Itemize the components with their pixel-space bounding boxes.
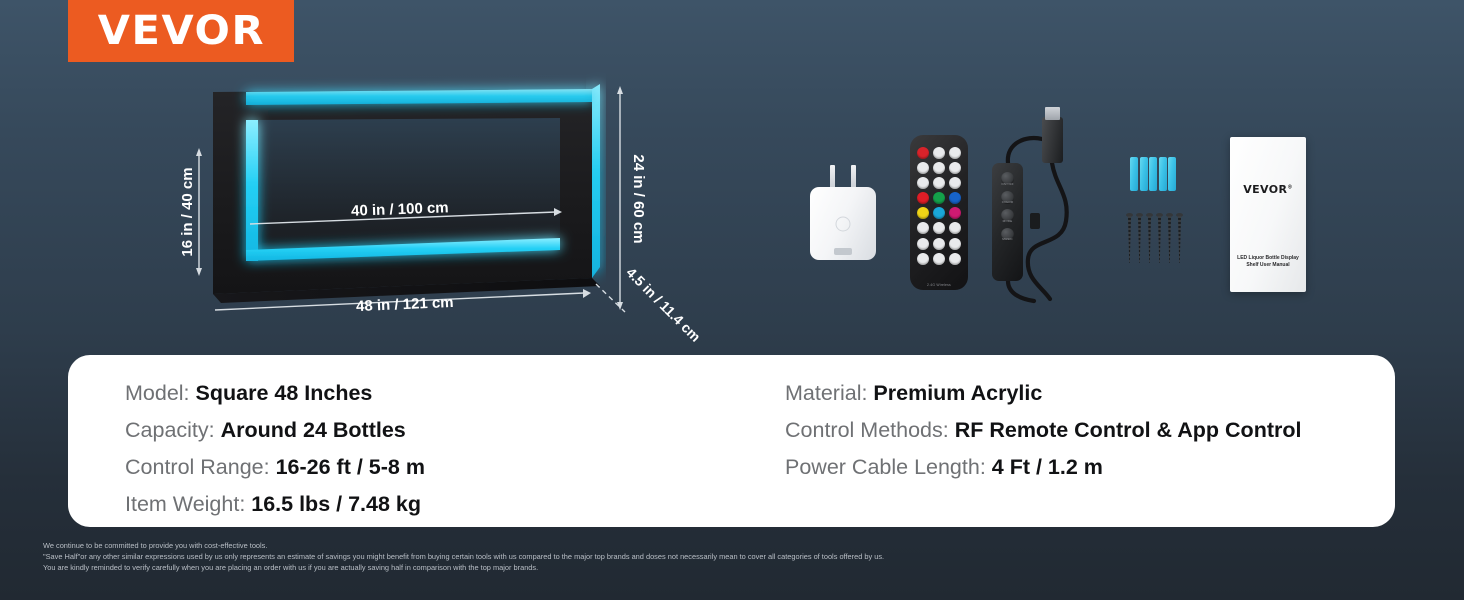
usb-connector <box>1042 117 1063 163</box>
remote-button-yellow[interactable] <box>917 207 929 219</box>
product-infographic: VEVOR <box>0 0 1464 600</box>
dimension-label-depth: 4.5 in / 11.4 cm <box>623 264 704 345</box>
rf-remote: 2.4G Wireless <box>910 135 968 290</box>
remote-button-w[interactable] <box>949 222 961 234</box>
spec-value: 16.5 lbs / 7.48 kg <box>251 492 421 516</box>
mounting-screw <box>1146 213 1153 263</box>
remote-button-row <box>917 207 961 219</box>
spec-value: Premium Acrylic <box>873 381 1042 405</box>
remote-button-row <box>917 177 961 189</box>
remote-button-off[interactable] <box>917 147 929 159</box>
wall-anchors <box>1130 157 1176 191</box>
controller-button-label: COLOR <box>1002 200 1014 204</box>
dimension-label-inner-width: 40 in / 100 cm <box>351 199 449 219</box>
mounting-screw <box>1166 213 1173 263</box>
user-manual: VEVOR® LED Liquor Bottle Display Shelf U… <box>1230 137 1306 292</box>
adapter-prong-left <box>830 165 835 189</box>
controller-button-label: MUSIC <box>1002 237 1012 241</box>
remote-button-red[interactable] <box>917 192 929 204</box>
spec-value: Around 24 Bottles <box>221 418 406 442</box>
remote-button-diy4[interactable] <box>933 177 945 189</box>
spec-value: Square 48 Inches <box>196 381 373 405</box>
remote-button-row <box>917 253 961 265</box>
remote-button-row <box>917 162 961 174</box>
manual-title: LED Liquor Bottle Display Shelf User Man… <box>1230 255 1306 271</box>
disclaimer-line: You are kindly reminded to verify carefu… <box>43 562 1383 573</box>
spec-row: Control Methods: RF Remote Control & App… <box>785 412 1385 448</box>
spec-row: Model: Square 48 Inches <box>125 375 785 411</box>
remote-button-green[interactable] <box>933 192 945 204</box>
adapter-logo-icon <box>836 216 851 231</box>
remote-button-diy1[interactable] <box>917 162 929 174</box>
remote-button-b-[interactable] <box>949 162 961 174</box>
spec-row: Material: Premium Acrylic <box>785 375 1385 411</box>
spec-label: Power Cable Length: <box>785 455 992 479</box>
controller-button-label: MODE <box>1003 219 1013 223</box>
remote-button-m2[interactable] <box>933 238 945 250</box>
remote-button-music[interactable] <box>917 253 929 265</box>
specifications-card: Model: Square 48 InchesCapacity: Around … <box>68 355 1395 527</box>
vevor-logo: VEVOR <box>68 0 294 62</box>
spec-row: Item Weight: 16.5 lbs / 7.48 kg <box>125 486 785 522</box>
shelf-cavity <box>246 118 560 261</box>
manual-brand-text: VEVOR <box>1243 183 1287 196</box>
remote-button-row <box>917 147 961 159</box>
remote-button-cyan[interactable] <box>933 207 945 219</box>
spec-value: 4 Ft / 1.2 m <box>992 455 1103 479</box>
remote-button-timer[interactable] <box>949 253 961 265</box>
remote-button-diy2[interactable] <box>933 162 945 174</box>
spec-label: Item Weight: <box>125 492 251 516</box>
remote-button-c2[interactable] <box>933 222 945 234</box>
led-glow-right <box>592 84 600 278</box>
wall-anchor <box>1140 157 1148 191</box>
spec-label: Control Range: <box>125 455 276 479</box>
accessories-group: 2.4G Wireless ON/OFFCOLORMODEMUSIC VEVOR… <box>790 95 1390 325</box>
power-adapter <box>810 165 876 260</box>
spec-row: Capacity: Around 24 Bottles <box>125 412 785 448</box>
mounting-screw <box>1136 213 1143 263</box>
remote-button-c1[interactable] <box>917 222 929 234</box>
remote-button-row <box>917 238 961 250</box>
remote-button-mode[interactable] <box>933 253 945 265</box>
spec-label: Capacity: <box>125 418 221 442</box>
dimension-label-height-right: 24 in / 60 cm <box>630 154 647 243</box>
usb-controller: ON/OFFCOLORMODEMUSIC <box>990 117 1095 307</box>
spec-label: Control Methods: <box>785 418 955 442</box>
controller-button-panel: ON/OFFCOLORMODEMUSIC <box>992 163 1023 281</box>
controller-button-label: ON/OFF <box>1001 182 1013 186</box>
remote-button-diy3[interactable] <box>917 177 929 189</box>
spec-label: Material: <box>785 381 873 405</box>
spec-row: Power Cable Length: 4 Ft / 1.2 m <box>785 449 1385 485</box>
remote-button-on[interactable] <box>949 147 961 159</box>
mounting-screw <box>1126 213 1133 263</box>
remote-button-row <box>917 192 961 204</box>
wall-anchor <box>1168 157 1176 191</box>
spec-value: 16-26 ft / 5-8 m <box>276 455 425 479</box>
spec-label: Model: <box>125 381 196 405</box>
shelf-diagram: 16 in / 40 cm 24 in / 60 cm 40 in / 100 … <box>0 62 760 352</box>
disclaimer-line: We continue to be committed to provide y… <box>43 540 1383 551</box>
adapter-prong-right <box>851 165 856 189</box>
adapter-body <box>810 187 876 260</box>
remote-button-row <box>917 222 961 234</box>
spec-column-right: Material: Premium AcrylicControl Methods… <box>785 375 1385 527</box>
wall-anchor <box>1149 157 1157 191</box>
product-illustration: 16 in / 40 cm 24 in / 60 cm 40 in / 100 … <box>0 62 760 352</box>
mounting-screws <box>1126 213 1186 265</box>
spec-column-left: Model: Square 48 InchesCapacity: Around … <box>125 375 785 527</box>
remote-button-grid <box>910 135 968 290</box>
remote-button-auto[interactable] <box>933 147 945 159</box>
remote-button-blue[interactable] <box>949 192 961 204</box>
disclaimer-line: "Save Half"or any other similar expressi… <box>43 551 1383 562</box>
spec-value: RF Remote Control & App Control <box>955 418 1302 442</box>
mounting-screw <box>1156 213 1163 263</box>
dimension-label-height-left: 16 in / 40 cm <box>179 167 196 256</box>
remote-button-m1[interactable] <box>917 238 929 250</box>
spec-row: Control Range: 16-26 ft / 5-8 m <box>125 449 785 485</box>
remote-button-b-[interactable] <box>949 177 961 189</box>
remote-footer-label: 2.4G Wireless <box>910 283 968 287</box>
remote-button-pink[interactable] <box>949 207 961 219</box>
remote-button-m3[interactable] <box>949 238 961 250</box>
wall-anchor <box>1159 157 1167 191</box>
mounting-screw <box>1176 213 1183 263</box>
vevor-wordmark: VEVOR <box>97 8 264 54</box>
manual-brand: VEVOR® <box>1230 183 1306 196</box>
wall-anchor <box>1130 157 1138 191</box>
dimension-label-outer-width: 48 in / 121 cm <box>356 294 454 315</box>
disclaimer: We continue to be committed to provide y… <box>43 540 1383 574</box>
